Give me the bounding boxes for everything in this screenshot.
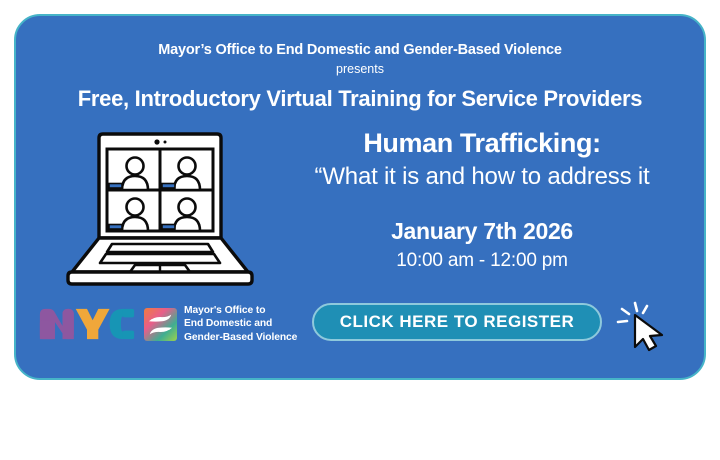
topic-title: Human Trafficking: xyxy=(256,128,706,159)
presents-label: presents xyxy=(16,62,704,76)
register-button[interactable]: CLICK HERE TO REGISTER xyxy=(312,303,602,341)
two-hands-icon xyxy=(144,308,177,341)
agency-name-line-3: Gender-Based Violence xyxy=(184,331,297,344)
nyc-wordmark-icon xyxy=(38,307,136,341)
event-details: Human Trafficking: “What it is and how t… xyxy=(256,128,706,272)
agency-name: Mayor's Office to End Domestic and Gende… xyxy=(184,304,297,344)
laptop-video-call-illustration xyxy=(60,126,260,291)
event-date: January 7th 2026 xyxy=(256,218,706,245)
footer: Mayor's Office to End Domestic and Gende… xyxy=(16,298,704,354)
event-time: 10:00 am - 12:00 pm xyxy=(256,250,706,272)
agency-name-line-2: End Domestic and xyxy=(184,317,297,330)
topic-subtitle: “What it is and how to address it xyxy=(256,163,706,192)
agency-name-line-1: Mayor's Office to xyxy=(184,304,297,317)
flyer-card: Mayor’s Office to End Domestic and Gende… xyxy=(14,14,706,380)
organization-title: Mayor’s Office to End Domestic and Gende… xyxy=(16,42,704,58)
nyc-agency-logo: Mayor's Office to End Domestic and Gende… xyxy=(38,298,297,350)
mouse-pointer-click-icon xyxy=(614,294,670,352)
training-headline: Free, Introductory Virtual Training for … xyxy=(16,86,704,112)
laptop-icon xyxy=(60,126,260,291)
